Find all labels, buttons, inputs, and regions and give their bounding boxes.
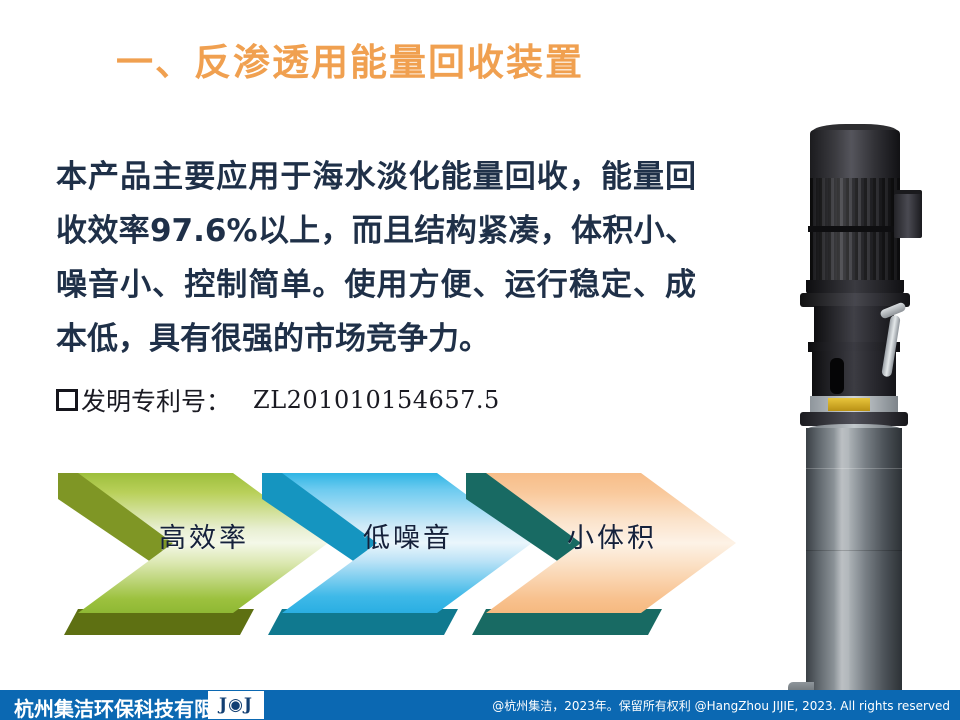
motor-housing [810, 130, 900, 182]
feature-chevron-label: 小体积 [532, 516, 692, 555]
square-bullet-icon [56, 389, 78, 411]
footer-copyright: @杭州集洁，2023年。保留所有权利 @HangZhou JIJIE, 2023… [492, 697, 950, 714]
body-paragraph: 本产品主要应用于海水淡化能量回收，能量回收效率97.6%以上，而且结构紧凑，体积… [56, 150, 696, 366]
vessel-highlight [834, 428, 850, 718]
feature-chevron-label: 低噪音 [328, 516, 488, 555]
patent-line: 发明专利号： ZL201010154657.5 [56, 382, 500, 418]
patent-label: 发明专利号： [81, 382, 231, 418]
feature-chevron-small-volume: 小体积 [466, 465, 736, 635]
company-logo: J◉J [208, 691, 264, 719]
slide-canvas: 一、反渗透用能量回收装置 本产品主要应用于海水淡化能量回收，能量回收效率97.6… [0, 0, 960, 720]
stainless-vessel [806, 428, 902, 718]
feature-chevron-group: 高效率 低噪音 小体积 [0, 465, 740, 645]
product-photo-energy-recovery-pump [744, 110, 960, 660]
vessel-seam-lower [806, 550, 902, 551]
motor-band [808, 226, 902, 232]
patent-number: ZL201010154657.5 [253, 386, 500, 414]
vessel-seam-upper [806, 468, 902, 469]
feature-chevron-label: 高效率 [124, 516, 284, 555]
page-title: 一、反渗透用能量回收装置 [0, 32, 700, 86]
yellow-warning-label [828, 398, 870, 411]
terminal-box [894, 194, 922, 238]
lantern-vent-slot [830, 358, 844, 394]
motor-base-flange [806, 280, 904, 294]
company-logo-text: J◉J [219, 697, 253, 714]
